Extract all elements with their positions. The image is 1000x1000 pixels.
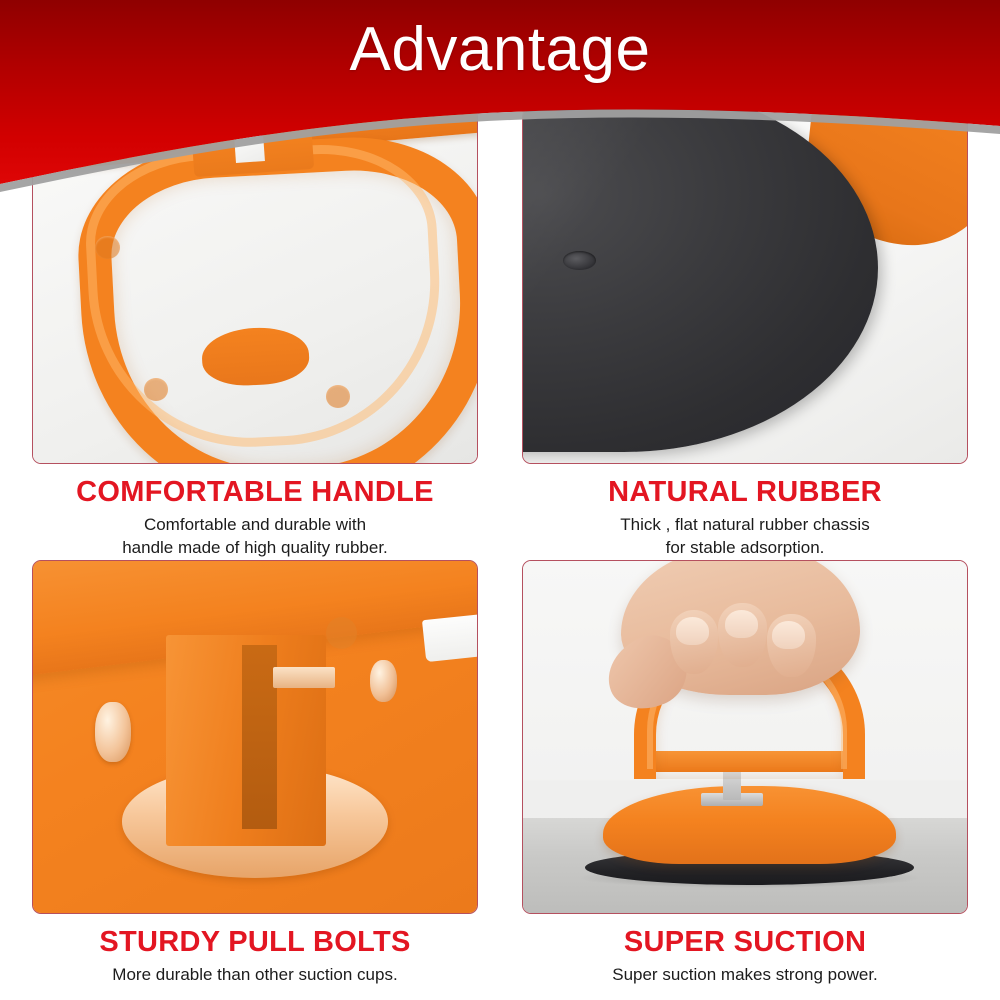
feature-caption: NATURAL RUBBER Thick , flat natural rubb… — [522, 464, 968, 559]
feature-title: COMFORTABLE HANDLE — [32, 476, 478, 509]
feature-description-line: handle made of high quality rubber. — [32, 536, 478, 559]
handle-tab-notch — [234, 133, 265, 163]
feature-title: STURDY PULL BOLTS — [32, 926, 478, 959]
feature-card-sturdy-pull-bolts: STURDY PULL BOLTS More durable than othe… — [32, 560, 478, 986]
infographic-page: Advantage C — [0, 0, 1000, 1000]
feature-card-super-suction: SUPER SUCTION Super suction makes strong… — [522, 560, 968, 986]
feature-description-line: Thick , flat natural rubber chassis — [522, 513, 968, 536]
metal-crossbar — [273, 667, 335, 688]
feature-title: SUPER SUCTION — [522, 926, 968, 959]
feature-photo-rubber — [522, 108, 968, 464]
feature-description: More durable than other suction cups. — [32, 959, 478, 986]
feature-description: Comfortable and durable with handle made… — [32, 509, 478, 559]
pull-bolt-head — [370, 660, 397, 702]
fingernail — [772, 621, 805, 649]
rubber-mold-mark — [563, 251, 596, 270]
fingernail — [725, 610, 758, 638]
pull-bolt-head — [95, 702, 131, 762]
feature-description-line: More durable than other suction cups. — [32, 963, 478, 986]
fingernail — [676, 617, 709, 645]
feature-card-natural-rubber: NATURAL RUBBER Thick , flat natural rubb… — [522, 108, 968, 559]
feature-photo-pull-bolts — [32, 560, 478, 914]
background-edge — [422, 614, 478, 663]
bolt-slot — [242, 645, 278, 828]
feature-photo-super-suction — [522, 560, 968, 914]
feature-card-comfortable-handle: COMFORTABLE HANDLE Comfortable and durab… — [32, 108, 478, 559]
feature-caption: SUPER SUCTION Super suction makes strong… — [522, 914, 968, 986]
feature-title: NATURAL RUBBER — [522, 476, 968, 509]
feature-caption: STURDY PULL BOLTS More durable than othe… — [32, 914, 478, 986]
feature-description-line: Super suction makes strong power. — [522, 963, 968, 986]
feature-photo-handle — [32, 108, 478, 464]
feature-description-line: Comfortable and durable with — [32, 513, 478, 536]
feature-description: Super suction makes strong power. — [522, 959, 968, 986]
feature-caption: COMFORTABLE HANDLE Comfortable and durab… — [32, 464, 478, 559]
feature-description: Thick , flat natural rubber chassis for … — [522, 509, 968, 559]
feature-grid: COMFORTABLE HANDLE Comfortable and durab… — [0, 0, 1000, 1000]
handle-stud — [95, 236, 119, 259]
feature-description-line: for stable adsorption. — [522, 536, 968, 559]
molding-stud — [326, 617, 357, 649]
